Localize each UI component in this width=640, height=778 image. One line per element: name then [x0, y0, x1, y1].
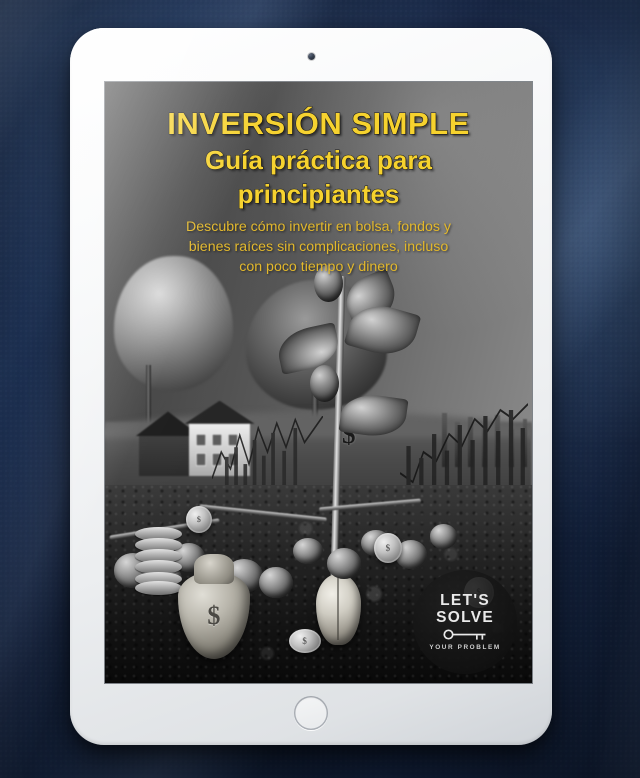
- plant-leaf: [338, 391, 408, 441]
- coin: $: [374, 533, 402, 563]
- ebook-cover-mockup: $: [0, 0, 640, 778]
- tablet-device: $: [70, 28, 552, 745]
- produce-fruit: [293, 538, 323, 564]
- brand-badge: LET'S SOLVE YOUR PROBLEM: [413, 570, 517, 674]
- house-window: [196, 453, 206, 466]
- produce-fruit: [327, 548, 361, 578]
- tablet-screen[interactable]: $: [105, 82, 532, 683]
- brand-line-1: LET'S: [440, 593, 490, 609]
- cover-tagline: Descubre cómo invertir en bolsa, fondos …: [149, 217, 489, 277]
- produce-fruit: [259, 567, 293, 599]
- brand-line-2: SOLVE: [436, 610, 494, 626]
- coin: $: [289, 629, 321, 653]
- cover-title-line-3: principiantes: [121, 179, 516, 211]
- cover-text-block: INVERSIÓN SIMPLE Guía práctica para prin…: [105, 108, 532, 278]
- vine: [319, 499, 421, 512]
- cover-title-line-2: Guía práctica para: [121, 145, 516, 177]
- coin: $: [186, 506, 212, 533]
- cover-tagline-line-1: Descubre cómo invertir en bolsa, fondos …: [186, 219, 451, 235]
- key-icon: [443, 629, 487, 640]
- coin-stack: [135, 527, 182, 593]
- front-camera-icon: [308, 53, 315, 60]
- cover-title-line-1: INVERSIÓN SIMPLE: [121, 108, 516, 140]
- cover-tagline-line-2: bienes raíces sin complicaciones, inclus…: [189, 239, 448, 255]
- brand-subtitle: YOUR PROBLEM: [429, 644, 500, 651]
- home-button[interactable]: [294, 696, 328, 730]
- cover-tagline-line-3: con poco tiempo y dinero: [239, 259, 398, 275]
- house-window: [196, 434, 206, 446]
- money-bag-neck: [194, 554, 235, 584]
- money-bag-dollar-icon: $: [178, 601, 251, 631]
- produce-fruit: [430, 524, 458, 549]
